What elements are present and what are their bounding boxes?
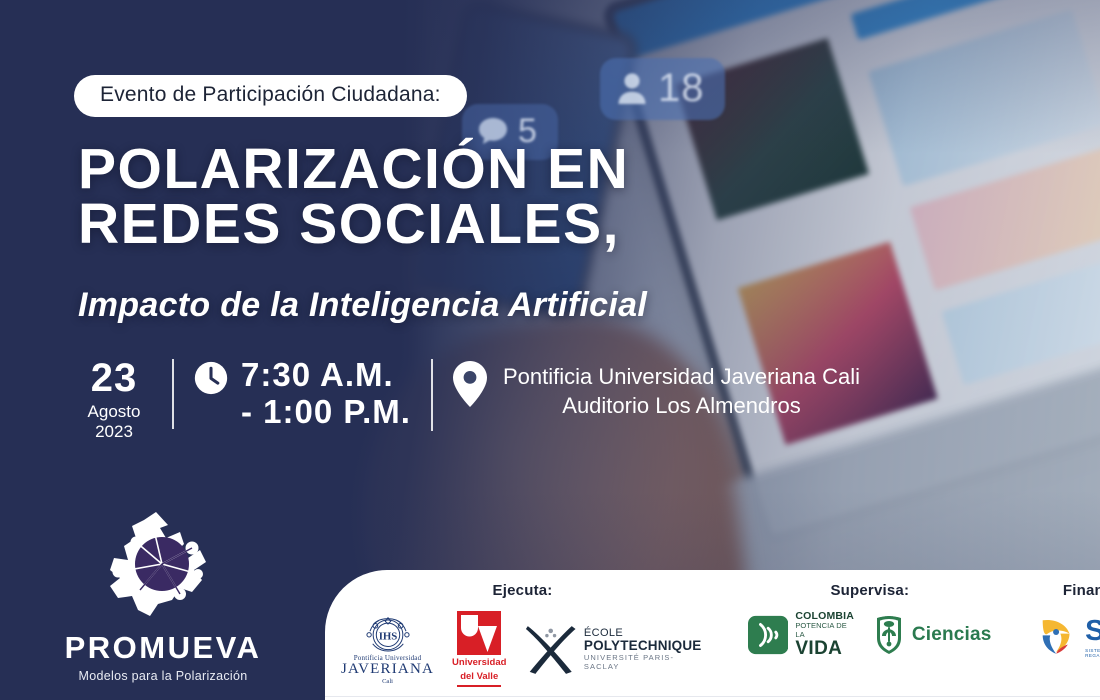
page-title: Polarización en Redes Sociales, (78, 142, 758, 253)
sponsor-group-title: Supervisa: (830, 582, 909, 599)
page-subtitle: Impacto de la Inteligencia Artificial (78, 286, 798, 325)
sponsor-group-financia: Financia: SGR SISTEMA GENERAL DE REGALÍA… (1020, 570, 1100, 700)
logo-javeriana: IHS Pontificia Universidad JAVERIANA Cal… (341, 613, 434, 685)
polytechnique-line-2: POLYTECHNIQUE (584, 639, 704, 653)
footer-hairline (325, 696, 1100, 697)
javeriana-line-2: JAVERIANA (341, 662, 434, 678)
logo-colombia-potencia-de-la-vida: COLOMBIA POTENCIA DE LA VIDA (748, 611, 856, 658)
sgr-acronym: SGR (1085, 617, 1100, 646)
logo-universidad-del-valle: Universidad del Valle (452, 611, 506, 687)
polytechnique-line-3: UNIVERSITÉ PARIS-SACLAY (584, 653, 704, 671)
sgr-fullname: SISTEMA GENERAL DE REGALÍAS (1085, 648, 1100, 658)
map-pin-icon (453, 361, 487, 407)
svg-text:IHS: IHS (378, 631, 397, 643)
logo-minciencias: Ciencias (874, 615, 992, 655)
date-year: 2023 (76, 422, 152, 442)
polytechnique-x-icon (524, 622, 577, 676)
colombia-wave-icon (748, 615, 788, 655)
kicker-badge: Evento de Participación Ciudadana: (74, 75, 467, 117)
meta-divider-2 (431, 359, 433, 431)
sponsor-group-supervisa: Supervisa: COLOMBIA POTENCIA DE LA (732, 570, 1008, 700)
cpv-line-3: VIDA (795, 639, 856, 658)
time-end: - 1:00 P.M. (241, 394, 411, 431)
event-date: 23 Agosto 2023 (76, 357, 152, 441)
sponsor-group-title: Ejecuta: (493, 582, 553, 599)
location-line-2: Auditorio Los Almendros (503, 392, 860, 421)
sponsors-footer: Ejecuta: IHS (325, 570, 1100, 700)
date-day: 23 (76, 359, 152, 397)
brand-tagline: Modelos para la Polarización (48, 669, 278, 683)
ciencias-label: Ciencias (912, 624, 992, 646)
location-line-1: Pontificia Universidad Javeriana Cali (503, 363, 860, 392)
univalle-mark-icon (457, 611, 501, 655)
promueva-network-map-icon (88, 508, 238, 628)
meta-divider-1 (172, 359, 174, 429)
javeriana-line-3: Cali (341, 678, 434, 685)
clock-icon (194, 361, 228, 395)
event-poster: 18 5 Evento de Participación Ciudadana: … (0, 0, 1100, 700)
promueva-brand: PROMUEVA Modelos para la Polarización (48, 508, 278, 683)
location-text: Pontificia Universidad Javeriana Cali Au… (503, 357, 860, 420)
event-meta-row: 23 Agosto 2023 7:30 A.M. - 1:00 P.M. (76, 357, 860, 441)
brand-name: PROMUEVA (48, 630, 278, 666)
univalle-line-1: Universidad (452, 658, 506, 669)
cpv-line-2: POTENCIA DE LA (795, 622, 856, 639)
sgr-swoosh-icon (1036, 611, 1080, 663)
sponsor-group-ejecuta: Ejecuta: IHS (325, 570, 720, 700)
logo-sgr: SGR SISTEMA GENERAL DE REGALÍAS (1036, 611, 1100, 663)
colombia-coat-of-arms-icon (874, 615, 904, 655)
title-line-2: Redes Sociales, (78, 197, 758, 252)
sponsor-group-title: Financia: (1063, 582, 1100, 599)
javeriana-crest-icon: IHS (361, 613, 415, 653)
event-location: Pontificia Universidad Javeriana Cali Au… (453, 357, 860, 420)
event-time: 7:30 A.M. - 1:00 P.M. (194, 357, 411, 431)
logo-ecole-polytechnique: ÉCOLE POLYTECHNIQUE UNIVERSITÉ PARIS-SAC… (524, 622, 704, 676)
univalle-line-2: del Valle (452, 672, 506, 683)
time-start: 7:30 A.M. (241, 357, 411, 394)
date-month: Agosto (76, 402, 152, 422)
time-text: 7:30 A.M. - 1:00 P.M. (241, 357, 411, 431)
